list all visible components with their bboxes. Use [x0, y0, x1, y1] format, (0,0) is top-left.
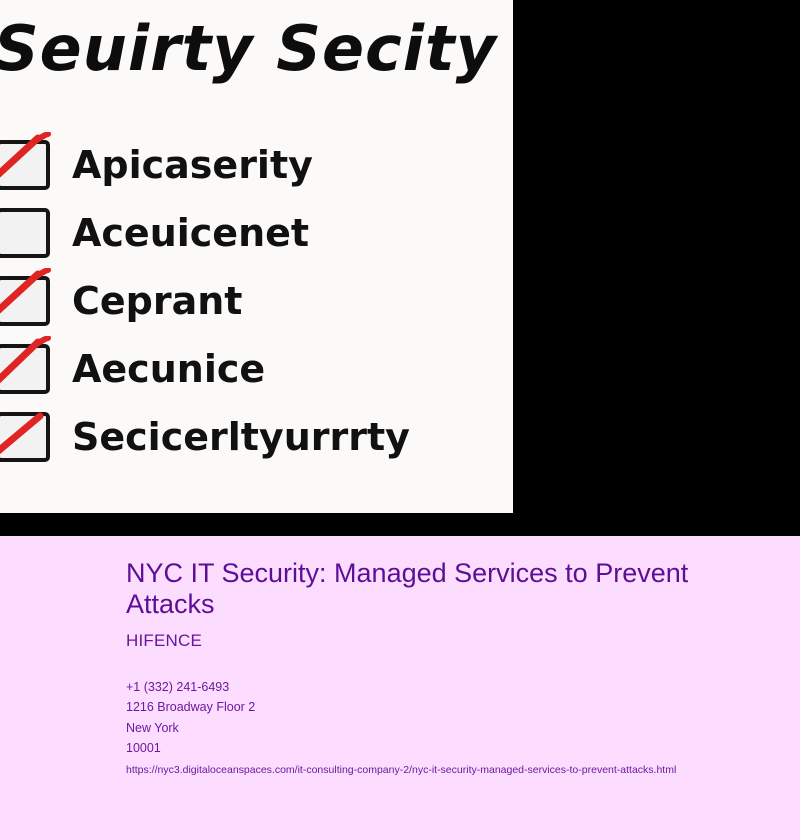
- contact-postal-code: 10001: [126, 738, 740, 758]
- content-card-inner: NYC IT Security: Managed Services to Pre…: [0, 536, 800, 778]
- checklist-item: Ceprant: [0, 267, 513, 335]
- page-root: Seuirty Secity Apicaserity Aceuicenet: [0, 0, 800, 840]
- checkbox-icon: [0, 140, 50, 190]
- whiteboard-heading: Seuirty Secity: [0, 18, 513, 80]
- checkbox-icon: [0, 208, 50, 258]
- checklist-item-label: Ceprant: [72, 282, 242, 320]
- checklist-item-label: Aceuicenet: [72, 214, 309, 252]
- contact-street: 1216 Broadway Floor 2: [126, 697, 740, 717]
- contact-phone[interactable]: +1 (332) 241-6493: [126, 677, 740, 697]
- checklist-item: Secicerltyurrrty: [0, 403, 513, 471]
- source-url[interactable]: https://nyc3.digitaloceanspaces.com/it-c…: [126, 763, 740, 778]
- checkbox-icon: [0, 412, 50, 462]
- checklist-item-label: Aecunice: [72, 350, 265, 388]
- checkbox-icon: [0, 344, 50, 394]
- whiteboard-image: Seuirty Secity Apicaserity Aceuicenet: [0, 0, 513, 513]
- content-card: NYC IT Security: Managed Services to Pre…: [0, 536, 800, 840]
- hero-media-letterbox: Seuirty Secity Apicaserity Aceuicenet: [0, 0, 800, 536]
- checklist-item-label: Secicerltyurrrty: [72, 418, 410, 456]
- checklist-item: Aecunice: [0, 335, 513, 403]
- whiteboard-checklist: Apicaserity Aceuicenet Ceprant: [0, 131, 513, 471]
- checkmark-icon: [0, 132, 56, 198]
- checkmark-icon: [0, 268, 56, 334]
- brand-name: HIFENCE: [126, 631, 740, 651]
- checkbox-icon: [0, 276, 50, 326]
- page-title: NYC IT Security: Managed Services to Pre…: [126, 558, 726, 621]
- checklist-item: Aceuicenet: [0, 199, 513, 267]
- contact-block: +1 (332) 241-6493 1216 Broadway Floor 2 …: [126, 677, 740, 758]
- checkmark-icon: [0, 336, 56, 402]
- contact-city: New York: [126, 718, 740, 738]
- checkmark-icon: [0, 404, 56, 470]
- checklist-item: Apicaserity: [0, 131, 513, 199]
- checklist-item-label: Apicaserity: [72, 146, 313, 184]
